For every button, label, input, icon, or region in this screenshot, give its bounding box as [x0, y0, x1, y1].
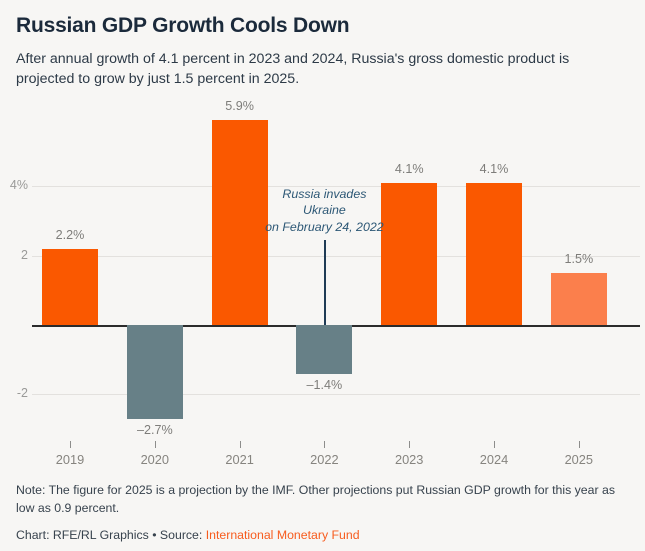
- bar-value-label-2022: –1.4%: [289, 378, 359, 392]
- annotation-line-text: Ukraine: [240, 202, 408, 218]
- x-axis-label-2025: 2025: [544, 452, 614, 467]
- x-axis-tick-2020: [155, 441, 156, 448]
- x-axis-tick-2019: [70, 441, 71, 448]
- chart-header: Russian GDP Growth Cools Down After annu…: [0, 0, 645, 89]
- bar-2020[interactable]: [127, 325, 183, 419]
- y-axis-tick-label: -2: [0, 386, 28, 400]
- annotation-line-text: Russia invades: [240, 186, 408, 202]
- x-axis-tick-2021: [240, 441, 241, 448]
- y-axis-tick-label: 4%: [0, 178, 28, 192]
- bar-value-label-2023: 4.1%: [374, 162, 444, 176]
- bar-2024[interactable]: [466, 183, 522, 325]
- x-axis-tick-2025: [579, 441, 580, 448]
- x-axis-label-2022: 2022: [289, 452, 359, 467]
- bar-2019[interactable]: [42, 249, 98, 325]
- source-link[interactable]: International Monetary Fund: [206, 528, 360, 542]
- annotation-line-text: on February 24, 2022: [240, 219, 408, 235]
- bar-value-label-2021: 5.9%: [205, 99, 275, 113]
- chart-footer: Note: The figure for 2025 is a projectio…: [16, 482, 635, 542]
- x-axis-label-2020: 2020: [120, 452, 190, 467]
- x-axis-tick-2022: [324, 441, 325, 448]
- x-axis-label-2024: 2024: [459, 452, 529, 467]
- y-gridline: [32, 394, 640, 395]
- annotation-text: Russia invadesUkraineon February 24, 202…: [240, 186, 408, 235]
- bar-2025[interactable]: [551, 273, 607, 325]
- chart-subtitle: After annual growth of 4.1 percent in 20…: [16, 49, 616, 89]
- bar-value-label-2019: 2.2%: [35, 228, 105, 242]
- page-title: Russian GDP Growth Cools Down: [16, 14, 629, 38]
- x-axis-label-2019: 2019: [35, 452, 105, 467]
- bar-value-label-2020: –2.7%: [120, 423, 190, 437]
- bar-2022[interactable]: [296, 325, 352, 374]
- x-axis-tick-2023: [409, 441, 410, 448]
- x-axis-tick-2024: [494, 441, 495, 448]
- chart-credit: Chart: RFE/RL Graphics • Source: Interna…: [16, 528, 635, 542]
- x-axis-label-2023: 2023: [374, 452, 444, 467]
- x-axis-label-2021: 2021: [205, 452, 275, 467]
- chart-note: Note: The figure for 2025 is a projectio…: [16, 482, 635, 518]
- bar-value-label-2025: 1.5%: [544, 252, 614, 266]
- annotation-line: [324, 240, 326, 325]
- y-axis-tick-label: 2: [0, 248, 28, 262]
- bar-value-label-2024: 4.1%: [459, 162, 529, 176]
- credit-prefix: Chart: RFE/RL Graphics • Source:: [16, 528, 206, 542]
